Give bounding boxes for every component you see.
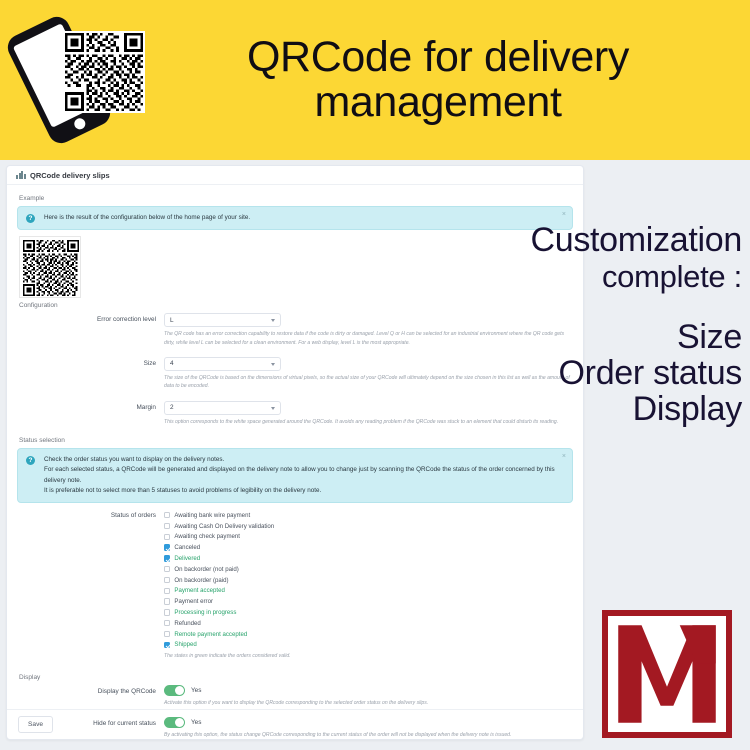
- mediacom-m-logo: [602, 610, 732, 738]
- status-checkbox[interactable]: [164, 598, 170, 604]
- banner-title-line2: management: [315, 78, 562, 126]
- panel-header: QRCode delivery slips: [7, 166, 583, 185]
- status-checkbox[interactable]: [164, 620, 170, 626]
- banner-title-line1: QRCode for delivery: [247, 33, 629, 81]
- logo-m-svg: [614, 621, 720, 727]
- smartphone-qr-icon: [8, 13, 148, 148]
- status-checkbox-label: Delivered: [174, 555, 200, 562]
- size-select[interactable]: 4: [164, 357, 281, 371]
- status-checkbox-label: Processing in progress: [174, 609, 236, 616]
- field-hint: The QR code has an error correction capa…: [164, 330, 572, 347]
- promo-banner: QRCode for delivery management: [0, 0, 750, 160]
- qrcode-preview: [19, 236, 81, 298]
- status-checkbox-label: Canceled: [174, 544, 200, 551]
- status-checkbox[interactable]: [164, 512, 170, 518]
- status-checkbox-row[interactable]: Payment error: [164, 596, 573, 607]
- example-alert-text: Here is the result of the configuration …: [44, 213, 556, 223]
- alert-close-icon[interactable]: ×: [562, 211, 566, 218]
- field-error-correction-level: Error correction level L The QR code has…: [17, 313, 573, 356]
- field-hint: This option corresponds to the white spa…: [164, 418, 572, 426]
- field-margin: Margin 2 This option corresponds to the …: [17, 401, 573, 435]
- status-checkbox-label: Remote payment accepted: [174, 631, 247, 638]
- status-checkbox-row[interactable]: Processing in progress: [164, 607, 573, 618]
- status-checkbox-label: Payment accepted: [174, 587, 224, 594]
- chevron-down-icon: [271, 407, 275, 410]
- status-checkbox-label: Payment error: [174, 598, 213, 605]
- status-checkbox[interactable]: [164, 555, 170, 561]
- section-label-configuration: Configuration: [19, 302, 573, 309]
- overlay-item3: Display: [633, 390, 742, 428]
- status-selection-alert: ? × Check the order status you want to d…: [17, 448, 573, 503]
- status-checkbox-label: Awaiting Cash On Delivery validation: [174, 523, 274, 530]
- status-checkbox-row[interactable]: Canceled: [164, 542, 573, 553]
- error-correction-level-select[interactable]: L: [164, 313, 281, 327]
- status-checkbox-row[interactable]: Awaiting bank wire payment: [164, 510, 573, 521]
- status-checkbox[interactable]: [164, 534, 170, 540]
- status-checkbox[interactable]: [164, 577, 170, 583]
- qrcode-preview-svg: [23, 240, 79, 296]
- field-hint: Activate this option if you want to disp…: [164, 699, 572, 707]
- section-label-example: Example: [19, 195, 573, 202]
- overlay-line2: complete :: [602, 259, 742, 294]
- overlay-item2: Order status: [559, 354, 742, 392]
- status-checkbox-label: On backorder (paid): [174, 577, 228, 584]
- alert-close-icon[interactable]: ×: [562, 453, 566, 460]
- status-checkbox-label: On backorder (not paid): [174, 566, 238, 573]
- qr-svg: [65, 33, 143, 111]
- field-status-of-orders: Status of orders Awaiting bank wire paym…: [17, 509, 573, 670]
- chevron-down-icon: [271, 363, 275, 366]
- save-button[interactable]: Save: [18, 716, 53, 733]
- field-label: Size: [17, 357, 164, 367]
- admin-screenshot: QRCode delivery slips Example ? × Here i…: [0, 160, 750, 750]
- status-checkbox[interactable]: [164, 588, 170, 594]
- status-checkbox-row[interactable]: On backorder (paid): [164, 575, 573, 586]
- field-label: Status of orders: [17, 509, 164, 519]
- margin-select[interactable]: 2: [164, 401, 281, 415]
- toggle-value: Yes: [191, 687, 201, 694]
- status-alert-line-1: Check the order status you want to displ…: [44, 455, 556, 465]
- section-label-status-selection: Status selection: [19, 437, 573, 444]
- field-hint: The size of the QRCode is based on the d…: [164, 374, 572, 391]
- status-checkbox[interactable]: [164, 609, 170, 615]
- select-value: L: [170, 317, 174, 324]
- status-checkbox-label: Awaiting bank wire payment: [174, 512, 250, 519]
- screenshot-root: QRCode for delivery management QRCode de…: [0, 0, 750, 750]
- status-checkbox-row[interactable]: Awaiting Cash On Delivery validation: [164, 521, 573, 532]
- example-alert: ? × Here is the result of the configurat…: [17, 206, 573, 230]
- toggle-knob: [175, 686, 184, 695]
- status-checkbox-row[interactable]: On backorder (not paid): [164, 564, 573, 575]
- panel-title: QRCode delivery slips: [30, 171, 110, 180]
- field-label: Margin: [17, 401, 164, 411]
- select-value: 4: [170, 360, 174, 367]
- status-alert-line-3: It is preferable not to select more than…: [44, 486, 556, 496]
- section-label-display: Display: [19, 674, 573, 681]
- status-checkbox-row[interactable]: Awaiting check payment: [164, 531, 573, 542]
- status-checkbox[interactable]: [164, 523, 170, 529]
- status-checkbox-row[interactable]: Refunded: [164, 618, 573, 629]
- status-checkbox-row[interactable]: Shipped: [164, 639, 573, 650]
- qrcode-settings-panel: QRCode delivery slips Example ? × Here i…: [6, 165, 584, 740]
- banner-qrcode-icon: [63, 31, 145, 113]
- chevron-down-icon: [271, 319, 275, 322]
- info-icon: ?: [26, 214, 35, 223]
- status-checkbox[interactable]: [164, 642, 170, 648]
- field-label: Error correction level: [17, 313, 164, 323]
- status-alert-line-2: For each selected status, a QRCode will …: [44, 465, 556, 485]
- status-checkbox-label: Shipped: [174, 641, 196, 648]
- status-hint: The states in green indicate the orders …: [164, 652, 572, 660]
- status-checkbox[interactable]: [164, 566, 170, 572]
- status-checkbox-label: Refunded: [174, 620, 200, 627]
- status-checkbox-row[interactable]: Payment accepted: [164, 585, 573, 596]
- status-checkbox-label: Awaiting check payment: [174, 533, 240, 540]
- panel-body: Example ? × Here is the result of the co…: [7, 185, 583, 748]
- module-chart-icon: [16, 171, 25, 179]
- select-value: 2: [170, 404, 174, 411]
- field-size: Size 4 The size of the QRCode is based o…: [17, 357, 573, 400]
- display-qrcode-toggle[interactable]: [164, 685, 185, 696]
- status-checkbox-list: Awaiting bank wire paymentAwaiting Cash …: [164, 509, 573, 650]
- panel-footer: Save: [7, 709, 583, 739]
- banner-title: QRCode for delivery management: [148, 35, 750, 125]
- qrcode-preview-wrap: [19, 236, 573, 298]
- info-icon: ?: [26, 456, 35, 465]
- field-label: Display the QRCode: [17, 685, 164, 695]
- status-checkbox[interactable]: [164, 631, 170, 637]
- status-checkbox-row[interactable]: Remote payment accepted: [164, 629, 573, 640]
- status-checkbox[interactable]: [164, 544, 170, 550]
- overlay-item1: Size: [677, 318, 742, 356]
- status-checkbox-row[interactable]: Delivered: [164, 553, 573, 564]
